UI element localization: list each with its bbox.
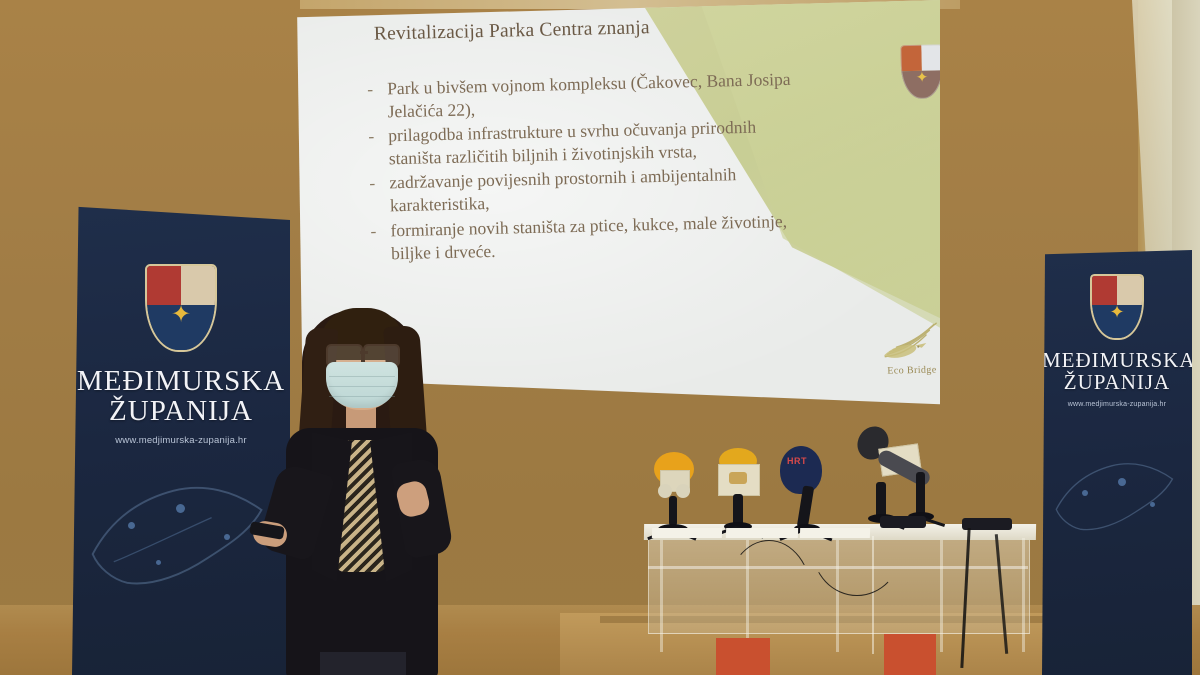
slide-title: Revitalizacija Parka Centra znanja bbox=[374, 14, 794, 46]
slide-bullet-list: - Park u bivšem vojnom kompleksu (Čakove… bbox=[367, 68, 801, 267]
chair bbox=[716, 638, 770, 675]
mic-base-plate bbox=[800, 528, 870, 538]
bullet-text: prilagodba infrastrukture u svrhu očuvan… bbox=[388, 115, 799, 171]
eyeglasses-icon bbox=[324, 344, 402, 364]
banner-title-line1: MEĐIMURSKA bbox=[1042, 350, 1192, 372]
star-icon: ✦ bbox=[171, 303, 191, 327]
mic-base-plate bbox=[652, 528, 722, 538]
eco-bridge-logo: Eco Bridge bbox=[861, 317, 940, 393]
bullet-text: zadržavanje povijesnih prostornih i ambi… bbox=[389, 162, 800, 218]
map-shape-icon bbox=[85, 462, 277, 606]
star-icon: ✦ bbox=[1109, 303, 1124, 321]
county-map-outline bbox=[1051, 446, 1183, 545]
banner-title-line2: ŽUPANIJA bbox=[1042, 372, 1192, 394]
chair bbox=[884, 634, 936, 675]
bullet-dash: - bbox=[368, 125, 389, 172]
bullet-text: Park u bivšem vojnom kompleksu (Čakovec,… bbox=[387, 68, 798, 124]
county-map-outline bbox=[85, 462, 277, 606]
press-conference-photo: Revitalizacija Parka Centra znanja - Par… bbox=[0, 0, 1200, 675]
bullet-text: formiranje novih staništa za ptice, kukc… bbox=[390, 209, 801, 265]
bullet-dash: - bbox=[370, 219, 391, 266]
banner-url: www.medjimurska-zupanija.hr bbox=[1042, 401, 1192, 408]
map-shape-icon bbox=[1051, 446, 1183, 545]
recorder-device bbox=[880, 516, 926, 528]
banner-coat-of-arms-icon: ✦ bbox=[1092, 276, 1142, 338]
presenter bbox=[250, 300, 470, 675]
eco-bridge-label: Eco Bridge bbox=[862, 364, 940, 377]
rollup-banner-right: ✦ MEĐIMURSKA ŽUPANIJA www.medjimurska-zu… bbox=[1042, 250, 1192, 675]
mic-flag-label: HRT bbox=[787, 456, 807, 466]
bullet-dash: - bbox=[369, 172, 390, 219]
bird-wing-icon bbox=[876, 317, 940, 365]
list-item: - formiranje novih staništa za ptice, ku… bbox=[370, 209, 801, 265]
slide-coat-of-arms-icon: ✦ bbox=[900, 44, 940, 99]
mic-base-plate bbox=[726, 528, 798, 538]
legs-trousers bbox=[320, 652, 406, 675]
banner-coat-of-arms-icon: ✦ bbox=[147, 266, 215, 350]
bullet-dash: - bbox=[367, 77, 388, 124]
